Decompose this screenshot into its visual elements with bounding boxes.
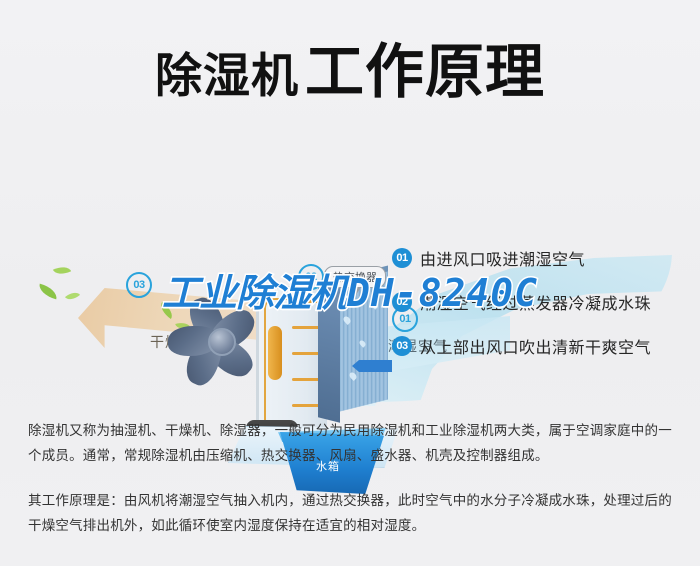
- page-title-part1: 除湿机: [155, 49, 299, 102]
- product-watermark-model: DH-8240C: [347, 271, 538, 315]
- air-intake-arrow: [352, 360, 392, 372]
- product-watermark: 工业除湿机DH-8240C: [0, 262, 700, 317]
- page-title: 除湿机工作原理: [0, 24, 700, 109]
- product-watermark-chinese: 工业除湿机: [162, 273, 347, 315]
- page-title-part2: 工作原理: [305, 39, 545, 105]
- fan-hub: [208, 328, 236, 356]
- list-item: 03 从上部出风口吹出清新干爽空气: [392, 334, 692, 358]
- description-paragraph-1: 除湿机又称为抽湿机、干燥机、除湿器，一般可分为民用除湿机和工业除湿机两大类，属于…: [28, 418, 672, 468]
- step-number-badge: 03: [392, 336, 412, 356]
- description-paragraph-2: 其工作原理是：由风机将潮湿空气抽入机内，通过热交换器，此时空气中的水分子冷凝成水…: [28, 488, 672, 538]
- step-text: 从上部出风口吹出清新干爽空气: [420, 334, 651, 358]
- poster-canvas: 除湿机工作原理 干燥空气 潮湿空气: [0, 0, 700, 566]
- receiver-cylinder: [268, 326, 282, 380]
